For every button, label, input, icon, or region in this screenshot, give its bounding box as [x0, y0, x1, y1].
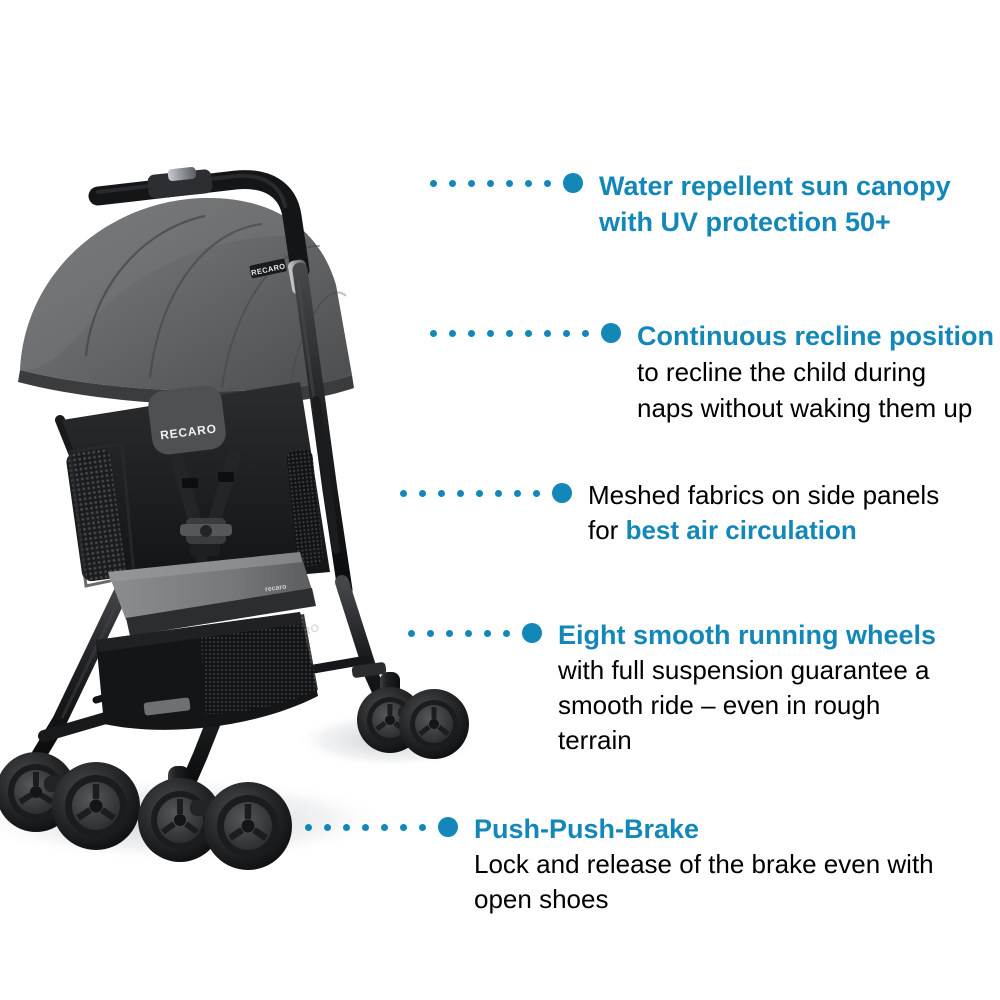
leader-dot-icon	[400, 490, 407, 497]
callout-line: Continuous recline position	[637, 318, 994, 354]
callout-line-prefix: for	[588, 515, 626, 545]
callout-eight-smooth-running-wheels: Eight smooth running wheels with full su…	[408, 618, 936, 758]
leader-dot-icon	[381, 824, 388, 831]
leader-dot-icon	[525, 330, 532, 337]
leader-dot-icon	[487, 330, 494, 337]
leader-dot-icon	[476, 490, 483, 497]
leader-dot-icon	[514, 490, 521, 497]
leader-line-recline	[430, 318, 621, 348]
leader-dot-icon	[563, 330, 570, 337]
callout-text-recline: Continuous recline position to recline t…	[637, 318, 994, 426]
leader-dot-icon	[449, 180, 456, 187]
leader-dot-icon	[582, 330, 589, 337]
leader-dot-icon	[449, 330, 456, 337]
leader-dot-icon	[468, 330, 475, 337]
callout-water-repellent-sun-canopy: Water repellent sun canopy with UV prote…	[430, 168, 951, 240]
callout-meshed-fabrics-side-panels: Meshed fabrics on side panels for best a…	[400, 478, 939, 548]
leader-dot-icon	[506, 330, 513, 337]
leader-dot-icon	[484, 630, 491, 637]
callout-line: open shoes	[474, 882, 934, 917]
callout-line-emphasis: best air circulation	[626, 515, 857, 545]
leader-dot-icon	[400, 824, 407, 831]
callout-text-wheels: Eight smooth running wheels with full su…	[558, 618, 936, 758]
leader-dot-icon	[438, 490, 445, 497]
callout-bullet-icon	[438, 817, 458, 837]
callout-line: terrain	[558, 723, 936, 758]
callout-text-mesh: Meshed fabrics on side panels for best a…	[588, 478, 939, 548]
callout-line: Eight smooth running wheels	[558, 618, 936, 653]
callout-line: for best air circulation	[588, 513, 939, 548]
leader-dot-icon	[324, 824, 331, 831]
callout-line: with UV protection 50+	[599, 204, 951, 240]
leader-dot-icon	[343, 824, 350, 831]
leader-dot-icon	[446, 630, 453, 637]
callout-line: Push-Push-Brake	[474, 812, 934, 847]
leader-dot-icon	[506, 180, 513, 187]
leader-dot-icon	[544, 180, 551, 187]
leader-line-mesh	[400, 478, 572, 508]
callout-line: naps without waking them up	[637, 390, 994, 426]
leader-dot-icon	[430, 330, 437, 337]
callout-line: to recline the child during	[637, 354, 994, 390]
leader-dot-icon	[525, 180, 532, 187]
leader-dot-icon	[468, 180, 475, 187]
callout-text-canopy: Water repellent sun canopy with UV prote…	[599, 168, 951, 240]
leader-dot-icon	[465, 630, 472, 637]
leader-dot-icon	[408, 630, 415, 637]
leader-dot-icon	[544, 330, 551, 337]
leader-line-canopy	[430, 168, 583, 198]
leader-dot-icon	[457, 490, 464, 497]
callout-line: with full suspension guarantee a	[558, 653, 936, 688]
leader-line-brake	[305, 812, 458, 842]
wheel	[204, 782, 292, 870]
leader-dot-icon	[533, 490, 540, 497]
leader-dot-icon	[419, 490, 426, 497]
callout-line: Lock and release of the brake even with	[474, 847, 934, 882]
leader-dot-icon	[362, 824, 369, 831]
leader-dot-icon	[305, 824, 312, 831]
callout-bullet-icon	[522, 623, 542, 643]
leader-dot-icon	[419, 824, 426, 831]
infographic-canvas: RECARO	[0, 0, 1000, 1000]
callout-line: Water repellent sun canopy	[599, 168, 951, 204]
leader-dot-icon	[487, 180, 494, 187]
callout-push-push-brake: Push-Push-Brake Lock and release of the …	[305, 812, 934, 917]
leader-dot-icon	[427, 630, 434, 637]
leader-dot-icon	[495, 490, 502, 497]
callout-continuous-recline-position: Continuous recline position to recline t…	[430, 318, 994, 426]
leader-line-wheels	[408, 618, 542, 648]
headrest-pad: RECARO	[146, 384, 227, 457]
callout-bullet-icon	[552, 483, 572, 503]
leader-dot-icon	[503, 630, 510, 637]
callout-text-brake: Push-Push-Brake Lock and release of the …	[474, 812, 934, 917]
callout-bullet-icon	[601, 323, 621, 343]
wheel	[52, 762, 140, 850]
callout-line: Meshed fabrics on side panels	[588, 478, 939, 513]
callout-line: smooth ride – even in rough	[558, 688, 936, 723]
leader-dot-icon	[430, 180, 437, 187]
callout-bullet-icon	[563, 173, 583, 193]
